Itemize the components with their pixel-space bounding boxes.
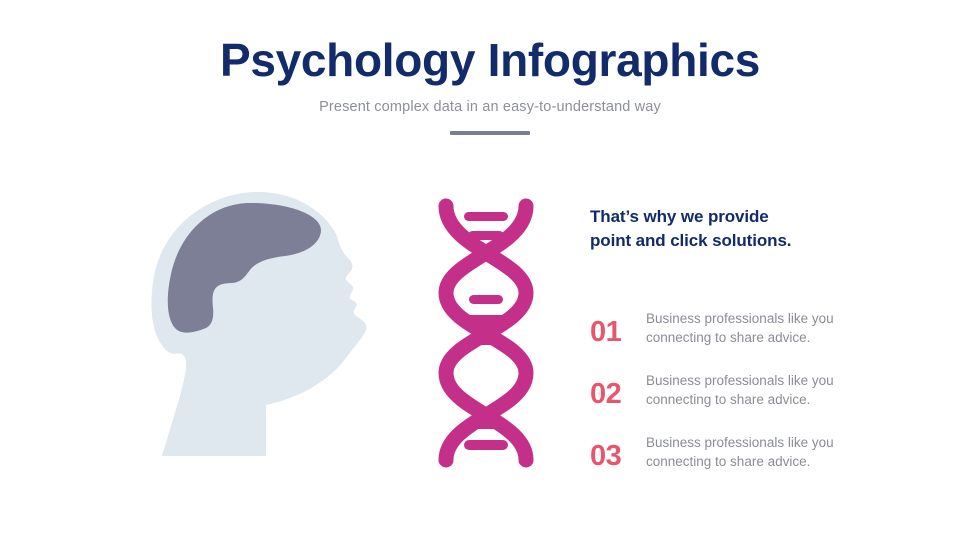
dna-rung bbox=[468, 231, 504, 240]
dna-rung bbox=[464, 440, 508, 450]
item-number: 03 bbox=[590, 433, 646, 471]
human-head-profile-icon bbox=[140, 190, 390, 480]
item-description: Business professionals like you connecti… bbox=[646, 309, 861, 348]
title-divider bbox=[450, 131, 530, 135]
item-number: 01 bbox=[590, 309, 646, 347]
lead-heading: That’s why we provide point and click so… bbox=[590, 205, 805, 253]
dna-helix-icon bbox=[432, 198, 540, 468]
text-column: That’s why we provide point and click so… bbox=[590, 205, 920, 472]
dna-rung bbox=[464, 212, 508, 221]
slide-header: Psychology Infographics Present complex … bbox=[0, 36, 980, 135]
item-description: Business professionals like you connecti… bbox=[646, 433, 861, 472]
list-item: 02 Business professionals like you conne… bbox=[590, 371, 920, 410]
page-subtitle: Present complex data in an easy-to-under… bbox=[0, 99, 980, 115]
item-description: Business professionals like you connecti… bbox=[646, 371, 861, 410]
dna-rung bbox=[469, 295, 503, 304]
page-title: Psychology Infographics bbox=[0, 36, 980, 85]
slide-canvas: Psychology Infographics Present complex … bbox=[0, 0, 980, 551]
dna-rung bbox=[468, 420, 504, 429]
list-item: 03 Business professionals like you conne… bbox=[590, 433, 920, 472]
dna-rung bbox=[469, 336, 503, 345]
dna-rung bbox=[461, 315, 511, 325]
slide-content: That’s why we provide point and click so… bbox=[0, 180, 980, 510]
numbered-item-list: 01 Business professionals like you conne… bbox=[590, 309, 920, 472]
list-item: 01 Business professionals like you conne… bbox=[590, 309, 920, 348]
item-number: 02 bbox=[590, 371, 646, 409]
